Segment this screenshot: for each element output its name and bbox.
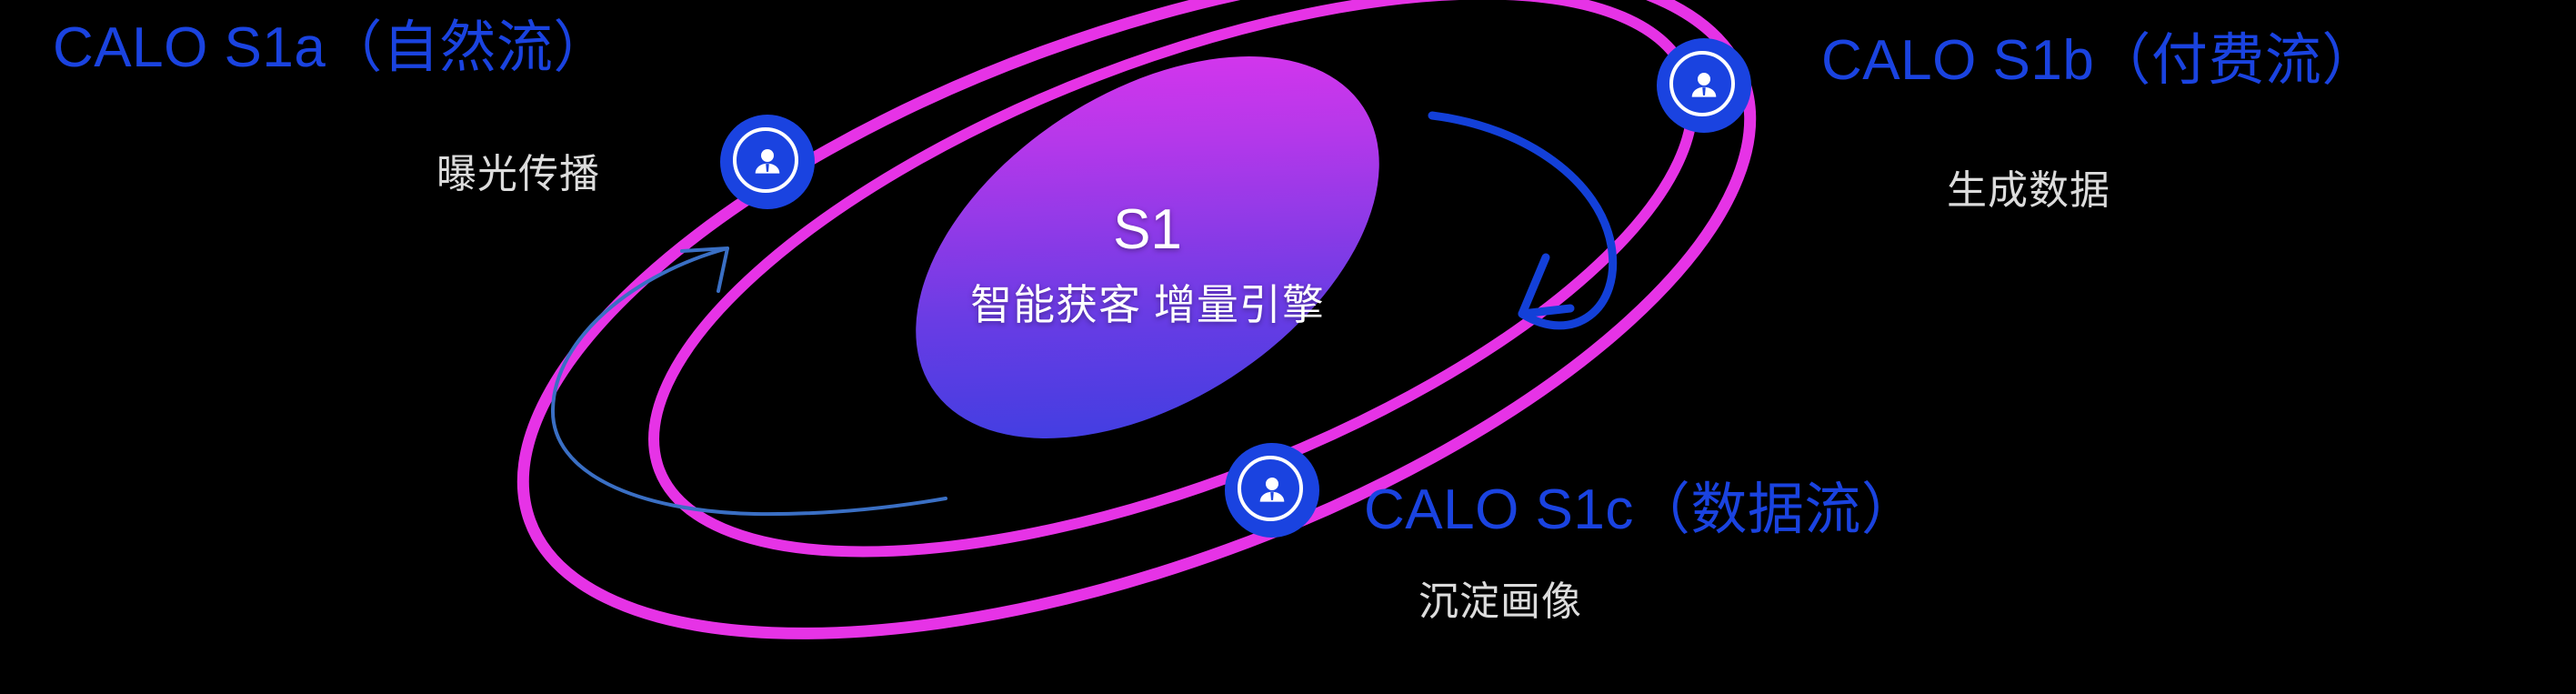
user-badge-icon (748, 143, 787, 181)
user-badge-icon (1253, 471, 1291, 509)
node-label-s1b: CALO S1b（付费流） (1821, 33, 2379, 89)
user-badge-icon (1685, 66, 1723, 105)
orbit-graphics (0, 0, 2576, 694)
node-badge-s1b[interactable] (1657, 38, 1751, 133)
right-flow-arrow (1432, 116, 1613, 326)
node-label-s1a: CALO S1a（自然流） (53, 20, 610, 76)
left-flow-arrow (553, 248, 946, 514)
node-label-s1c: CALO S1c（数据流） (1364, 482, 1918, 538)
core-ellipse (847, 0, 1448, 518)
node-sublabel-s1b: 生成数据 (1947, 171, 2110, 211)
node-sublabel-s1a: 曝光传播 (436, 155, 600, 195)
node-sublabel-s1c: 沉淀画像 (1418, 582, 1582, 622)
diagram-canvas: S1 智能获客 增量引擎 CALO S1a（自然流） 曝光传播 CALO S1b… (0, 0, 2576, 694)
node-badge-s1c[interactable] (1225, 443, 1319, 538)
node-badge-s1a[interactable] (720, 115, 815, 209)
